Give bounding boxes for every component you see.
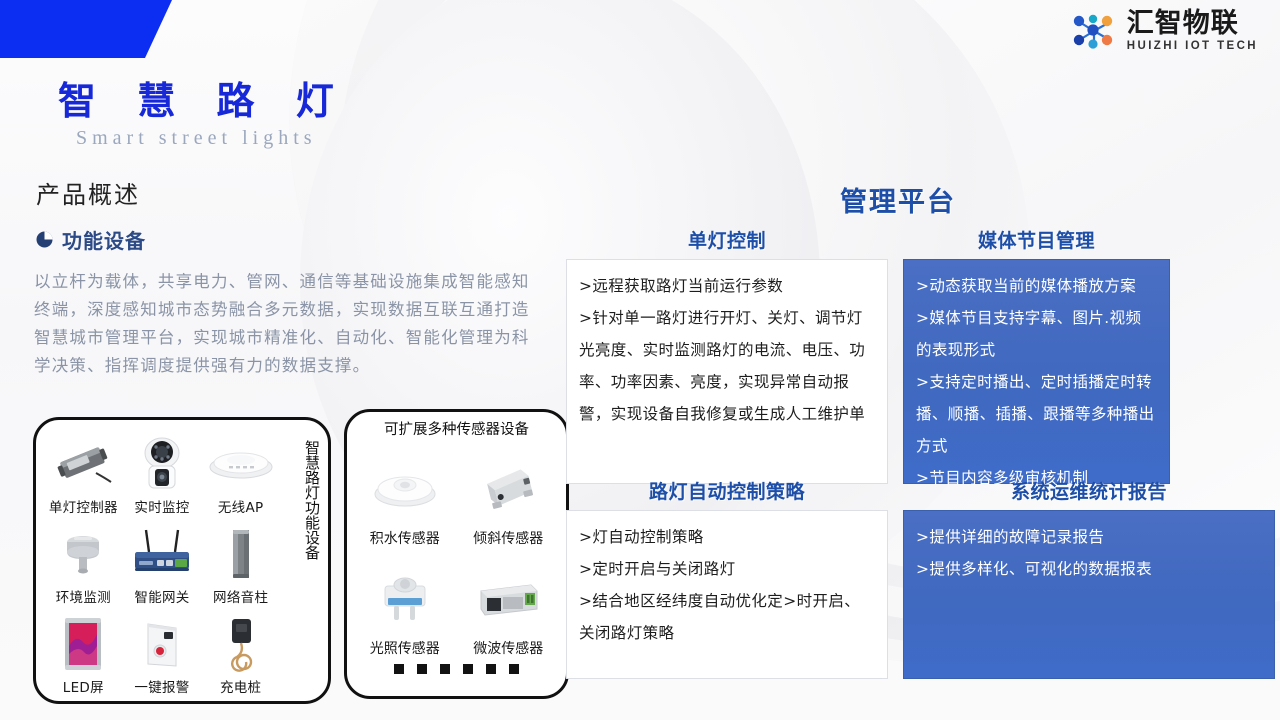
sensor-dot [440, 664, 450, 674]
wireless-ap-icon [207, 434, 275, 494]
sensor-item-label: 倾斜传感器 [473, 528, 543, 548]
panel-bullet: >结合地区经纬度自动优化定>时开启、关闭路灯策略 [579, 585, 875, 649]
panel-single-lamp-control: 单灯控制 >远程获取路灯当前运行参数>针对单一路灯进行开灯、关灯、调节灯光亮度、… [566, 226, 888, 484]
device-item-label: 环境监测 [56, 586, 111, 606]
sensor-dot [509, 664, 519, 674]
panel-header: 系统运维统计报告 [903, 477, 1275, 504]
product-description: 以立杆为载体，共享电力、管网、通信等基础设施集成智能感知终端，深度感知城市态势融… [34, 268, 534, 380]
sensor-item-label: 光照传感器 [370, 638, 440, 658]
panel-bullet: >灯自动控制策略 [579, 521, 875, 553]
led-screen-icon [62, 614, 104, 674]
panel-bullet: >提供详细的故障记录报告 [916, 521, 1262, 553]
device-item-label: 充电桩 [220, 676, 261, 696]
functional-device-card: 单灯控制器实时监控无线AP环境监测智能网关网络音柱LED屏一键报警充电桩 智慧路… [33, 417, 331, 704]
sensor-item-label: 微波传感器 [473, 638, 543, 658]
device-item-label: 单灯控制器 [49, 496, 118, 516]
platform-title: 管理平台 [840, 180, 956, 219]
network-speaker-icon [226, 524, 256, 584]
panel-bullet: >远程获取路灯当前运行参数 [579, 270, 875, 302]
page-subtitle: Smart street lights [76, 127, 317, 150]
panel-media-program-management: 媒体节目管理 >动态获取当前的媒体播放方案>媒体节目支持字幕、图片.视频的表现形… [903, 226, 1170, 484]
panel-body: >提供详细的故障记录报告>提供多样化、可视化的数据报表 [903, 510, 1275, 679]
light-sensor-icon [375, 563, 435, 635]
device-item-label: 无线AP [218, 496, 264, 516]
panel-header: 媒体节目管理 [903, 226, 1170, 253]
sensor-item: 微波传感器 [457, 548, 561, 658]
sensor-item: 倾斜传感器 [457, 438, 561, 548]
panel-system-ops-statistics-report: 系统运维统计报告 >提供详细的故障记录报告>提供多样化、可视化的数据报表 [903, 477, 1275, 679]
sensor-item: 积水传感器 [353, 438, 457, 548]
panel-bullet: >媒体节目支持字幕、图片.视频的表现形式 [916, 302, 1157, 366]
water-level-sensor-icon [371, 453, 439, 525]
panel-header: 路灯自动控制策略 [566, 477, 888, 504]
pie-bullet-icon [36, 231, 53, 248]
device-item: 一键报警 [123, 606, 202, 696]
page-title: 智 慧 路 灯 [58, 70, 348, 125]
sensor-dot [394, 664, 404, 674]
charging-pile-icon [220, 614, 262, 674]
device-item: 无线AP [201, 426, 280, 516]
panel-lamp-auto-control-strategy: 路灯自动控制策略 >灯自动控制策略>定时开启与关闭路灯>结合地区经纬度自动优化定… [566, 477, 888, 679]
sensor-more-dots [347, 664, 566, 674]
device-item-label: LED屏 [63, 676, 104, 696]
alarm-button-icon [140, 614, 184, 674]
subsection-label: 功能设备 [62, 225, 146, 254]
lamp-controller-icon [52, 434, 114, 494]
panel-body: >动态获取当前的媒体播放方案>媒体节目支持字幕、图片.视频的表现形式>支持定时播… [903, 259, 1170, 484]
device-item: LED屏 [44, 606, 123, 696]
device-item: 单灯控制器 [44, 426, 123, 516]
device-item: 环境监测 [44, 516, 123, 606]
device-item: 智能网关 [123, 516, 202, 606]
panel-bullet: >定时开启与关闭路灯 [579, 553, 875, 585]
molecule-network-icon [1071, 11, 1119, 51]
panel-header: 单灯控制 [566, 226, 888, 253]
sensor-card-heading: 可扩展多种传感器设备 [347, 418, 566, 439]
device-item: 充电桩 [201, 606, 280, 696]
panel-bullet: >支持定时播出、定时插播定时转播、顺播、插播、跟播等多种播出方式 [916, 366, 1157, 462]
expandable-sensor-card: 可扩展多种传感器设备 积水传感器倾斜传感器光照传感器微波传感器 [344, 409, 569, 699]
panel-body: >灯自动控制策略>定时开启与关闭路灯>结合地区经纬度自动优化定>时开启、关闭路灯… [566, 510, 888, 679]
device-item-label: 智能网关 [134, 586, 189, 606]
ptz-camera-icon [136, 434, 188, 494]
device-item-label: 实时监控 [134, 496, 189, 516]
sensor-item: 光照传感器 [353, 548, 457, 658]
environment-sensor-icon [56, 524, 110, 584]
sensor-dot [417, 664, 427, 674]
device-item: 网络音柱 [201, 516, 280, 606]
sensor-dot [486, 664, 496, 674]
device-card-vertical-label: 智慧路灯功能设备 [296, 440, 322, 560]
panel-body: >远程获取路灯当前运行参数>针对单一路灯进行开灯、关灯、调节灯光亮度、实时监测路… [566, 259, 888, 484]
device-item: 实时监控 [123, 426, 202, 516]
subsection-functional-devices: 功能设备 [36, 225, 146, 254]
logo-name-en: HUIZHI IOT TECH [1127, 41, 1258, 53]
smart-gateway-icon [127, 524, 197, 584]
panel-bullet: >针对单一路灯进行开灯、关灯、调节灯光亮度、实时监测路灯的电流、电压、功率、功率… [579, 302, 875, 430]
panel-bullet: >动态获取当前的媒体播放方案 [916, 270, 1157, 302]
panel-bullet: >提供多样化、可视化的数据报表 [916, 553, 1262, 585]
sensor-dot [463, 664, 473, 674]
sensor-item-label: 积水传感器 [370, 528, 440, 548]
section-title-product-overview: 产品概述 [36, 175, 140, 210]
corner-accent-shape [0, 0, 190, 58]
brand-logo: 汇智物联 HUIZHI IOT TECH [1071, 10, 1258, 53]
tilt-sensor-icon [475, 453, 541, 525]
device-item-label: 网络音柱 [213, 586, 268, 606]
logo-name-cn: 汇智物联 [1127, 10, 1258, 37]
device-item-label: 一键报警 [134, 676, 189, 696]
microwave-sensor-icon [473, 563, 543, 635]
